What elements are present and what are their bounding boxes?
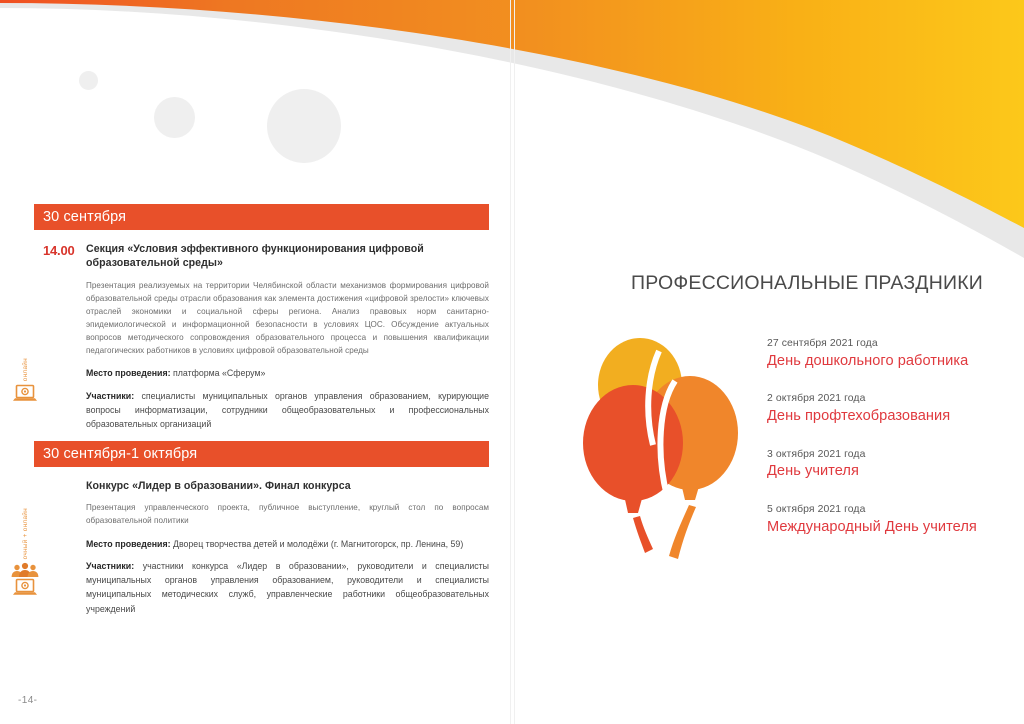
event-description: Презентация реализуемых на территории Че… bbox=[86, 279, 489, 358]
format-badge-hybrid: очный + онлайн bbox=[8, 508, 42, 598]
holiday-name: Международный День учителя bbox=[767, 518, 1017, 538]
event-entry: 14.00 Секция «Условия эффективного функц… bbox=[34, 230, 489, 431]
section-date-header: 30 сентября bbox=[34, 204, 489, 230]
holiday-name: День профтехобразования bbox=[767, 407, 1017, 427]
event-venue: Место проведения: Дворец творчества дете… bbox=[86, 537, 489, 551]
format-badge-label: очный + онлайн bbox=[22, 508, 29, 559]
people-icon bbox=[10, 562, 40, 578]
event-entry: Конкурс «Лидер в образовании». Финал кон… bbox=[34, 467, 489, 616]
section-date-header: 30 сентября-1 октября bbox=[34, 441, 489, 467]
event-participants: Участники: участники конкурса «Лидер в о… bbox=[86, 559, 489, 616]
format-badge-label: онлайн bbox=[22, 358, 29, 381]
venue-label: Место проведения bbox=[86, 539, 168, 549]
page-number: -14- bbox=[18, 695, 37, 706]
holiday-name: День дошкольного работника bbox=[767, 352, 1017, 372]
holiday-item: 5 октября 2021 года Международный День у… bbox=[767, 502, 1017, 537]
venue-value: Дворец творчества детей и молодёжи (г. М… bbox=[173, 539, 463, 549]
holiday-name: День учителя bbox=[767, 462, 1017, 482]
left-page: 30 сентября 14.00 Секция «Условия эффект… bbox=[0, 0, 510, 724]
holiday-date: 27 сентября 2021 года bbox=[767, 336, 1017, 352]
holiday-item: 27 сентября 2021 года День дошкольного р… bbox=[767, 336, 1017, 371]
participants-value: специалисты муниципальных органов управл… bbox=[86, 391, 489, 430]
schedule-section-1: 30 сентября 14.00 Секция «Условия эффект… bbox=[34, 204, 489, 439]
holiday-item: 3 октября 2021 года День учителя bbox=[767, 447, 1017, 482]
participants-value: участники конкурса «Лидер в образовании»… bbox=[86, 561, 489, 614]
balloons-illustration bbox=[577, 333, 745, 573]
format-badge-icons bbox=[8, 384, 42, 404]
balloons-icon bbox=[577, 333, 745, 568]
venue-value: платформа «Сферум» bbox=[173, 368, 265, 378]
holiday-date: 5 октября 2021 года bbox=[767, 502, 1017, 518]
event-description: Презентация управленческого проекта, пуб… bbox=[86, 501, 489, 527]
holiday-date: 2 октября 2021 года bbox=[767, 391, 1017, 407]
event-title: Конкурс «Лидер в образовании». Финал кон… bbox=[86, 479, 489, 493]
laptop-icon bbox=[12, 578, 38, 598]
event-time: 14.00 bbox=[43, 243, 75, 258]
format-badge-icons bbox=[8, 562, 42, 598]
event-title: Секция «Условия эффективного функциониро… bbox=[86, 242, 489, 271]
holidays-list: 27 сентября 2021 года День дошкольного р… bbox=[767, 336, 1017, 557]
participants-label: Участники bbox=[86, 391, 131, 401]
event-participants: Участники: специалисты муниципальных орг… bbox=[86, 389, 489, 432]
schedule-section-2: 30 сентября-1 октября Конкурс «Лидер в о… bbox=[34, 441, 489, 624]
venue-label: Место проведения bbox=[86, 368, 168, 378]
holiday-item: 2 октября 2021 года День профтехобразова… bbox=[767, 391, 1017, 426]
laptop-icon bbox=[12, 384, 38, 404]
holiday-date: 3 октября 2021 года bbox=[767, 447, 1017, 463]
page-gutter-line-left bbox=[510, 0, 511, 724]
participants-label: Участники bbox=[86, 561, 131, 571]
page-title: ПРОФЕССИОНАЛЬНЫЕ ПРАЗДНИКИ bbox=[631, 272, 983, 295]
format-badge-online: онлайн bbox=[8, 358, 42, 404]
event-venue: Место проведения: платформа «Сферум» bbox=[86, 366, 489, 380]
right-page: ПРОФЕССИОНАЛЬНЫЕ ПРАЗДНИКИ 27 сентября 2… bbox=[514, 0, 1024, 724]
